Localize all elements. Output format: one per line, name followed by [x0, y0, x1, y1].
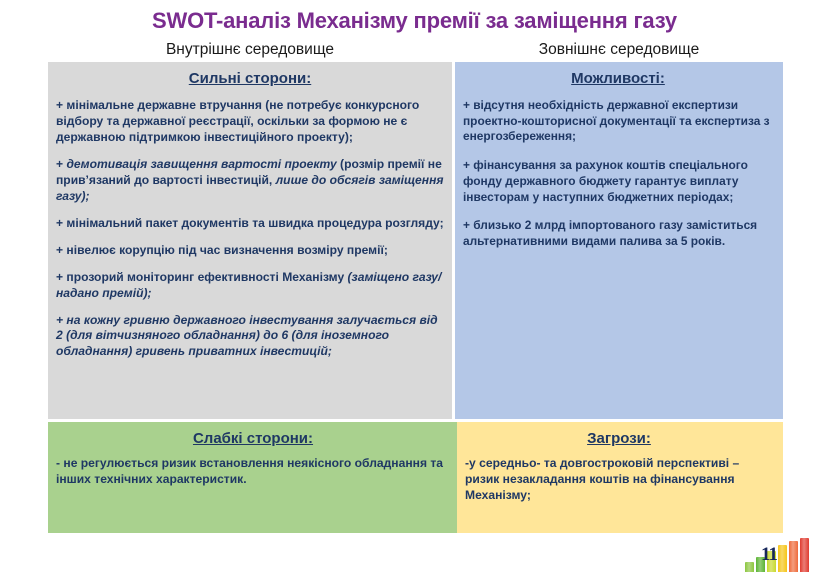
quadrant-threats: Загрози: -у середньо- та довгостроковій … — [457, 422, 783, 533]
bullet-item: + мінімальне державне втручання (не потр… — [56, 98, 444, 146]
bullet-run: + фінансування за рахунок коштів спеціал… — [463, 158, 748, 203]
bullet-item: + демотивація завищення вартості проекту… — [56, 157, 444, 205]
quadrant-threats-heading: Загрози: — [465, 430, 773, 448]
page-title: SWOT-аналіз Механізму премії за заміщенн… — [0, 8, 829, 34]
bullet-item: + мінімальний пакет документів та швидка… — [56, 216, 444, 232]
slide-canvas: SWOT-аналіз Механізму премії за заміщенн… — [0, 0, 829, 587]
quadrant-opportunities: Можливості: + відсутня необхідність держ… — [455, 62, 783, 419]
quadrant-strengths-bullets: + мінімальне державне втручання (не потр… — [56, 98, 444, 360]
bullet-run-italic: + на кожну гривню державного інвестуванн… — [56, 313, 438, 359]
bullet-run: -у середньо- та довгостроковій перспекти… — [465, 456, 739, 502]
bar-chart-logo-icon — [745, 538, 815, 572]
bullet-item: + прозорий моніторинг ефективності Механ… — [56, 270, 444, 302]
quadrant-strengths: Сильні сторони: + мінімальне державне вт… — [48, 62, 452, 419]
bullet-item: + на кожну гривню державного інвестуванн… — [56, 313, 444, 361]
bullet-item: + нівелює корупцію під час визначення во… — [56, 243, 444, 259]
bullet-run: + близько 2 млрд імпортованого газу замі… — [463, 218, 757, 248]
quadrant-opportunities-heading: Можливості: — [463, 70, 773, 88]
bullet-run: + прозорий моніторинг ефективності Механ… — [56, 270, 348, 284]
bullet-run: - не регулюється ризик встановлення неяк… — [56, 456, 443, 486]
bullet-run: + мінімальний пакет документів та швидка… — [56, 216, 444, 230]
quadrant-weaknesses-heading: Слабкі сторони: — [56, 430, 450, 448]
quadrant-opportunities-bullets: + відсутня необхідність державної експер… — [463, 98, 773, 250]
bullet-item: + близько 2 млрд імпортованого газу замі… — [463, 218, 773, 249]
bullet-run: + відсутня необхідність державної експер… — [463, 98, 770, 143]
logo-bar — [778, 545, 787, 572]
logo-bar — [800, 538, 809, 572]
quadrant-threats-bullets: -у середньо- та довгостроковій перспекти… — [465, 456, 773, 504]
logo-reflection — [745, 572, 815, 581]
slide-number: 11 — [761, 544, 777, 566]
bullet-run-italic: демотивація завищення вартості проекту — [66, 157, 340, 171]
quadrant-weaknesses-bullets: - не регулюється ризик встановлення неяк… — [56, 456, 450, 488]
quadrant-strengths-heading: Сильні сторони: — [56, 70, 444, 88]
bullet-run: + нівелює корупцію під час визначення во… — [56, 243, 388, 257]
column-header-internal: Внутрішнє середовище — [48, 41, 452, 59]
footer-logo: 11 — [745, 538, 815, 580]
bullet-item: -у середньо- та довгостроковій перспекти… — [465, 456, 773, 504]
logo-bar — [745, 562, 754, 572]
bullet-run: + мінімальне державне втручання (не потр… — [56, 98, 419, 144]
bullet-item: - не регулюється ризик встановлення неяк… — [56, 456, 450, 488]
bullet-item: + відсутня необхідність державної експер… — [463, 98, 773, 145]
bullet-item: + фінансування за рахунок коштів спеціал… — [463, 158, 773, 205]
logo-bar — [789, 541, 798, 572]
column-header-external: Зовнішнє середовище — [455, 41, 783, 59]
bullet-run: + — [56, 157, 66, 171]
quadrant-weaknesses: Слабкі сторони: - не регулюється ризик в… — [48, 422, 458, 533]
